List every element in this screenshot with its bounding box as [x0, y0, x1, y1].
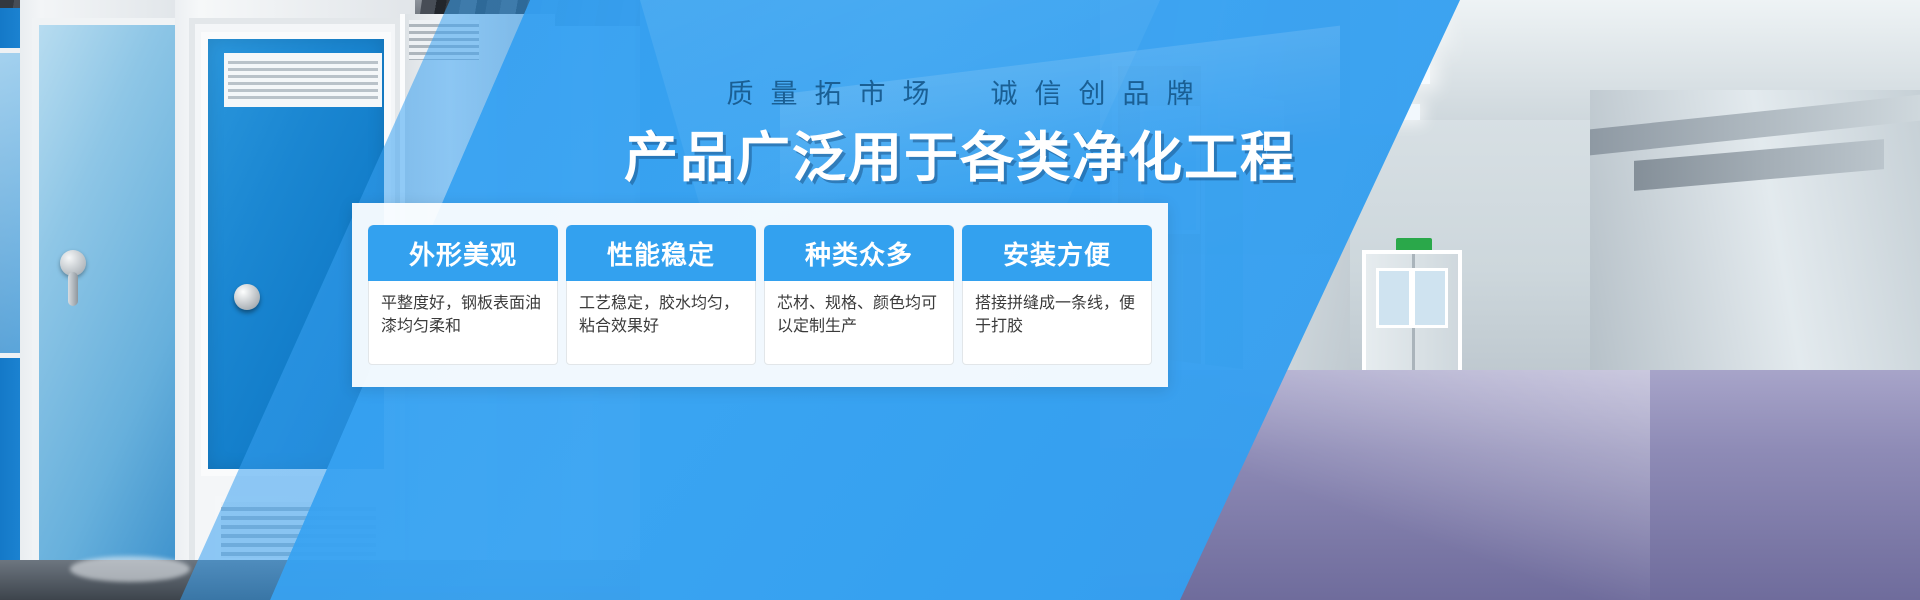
feature-card-text: 工艺稳定，胶水均匀，粘合效果好: [567, 281, 755, 345]
feature-card-text: 搭接拼缝成一条线，便于打胶: [963, 281, 1151, 345]
banner-tagline: 质量拓市场 诚信创品牌: [0, 72, 1920, 111]
feature-card[interactable]: 外形美观 平整度好，钢板表面油漆均匀柔和: [368, 225, 558, 365]
feature-card-text: 芯材、规格、颜色均可以定制生产: [765, 281, 953, 345]
feature-card-title: 安装方便: [962, 225, 1152, 281]
banner-headline: 产品广泛用于各类净化工程: [0, 113, 1920, 192]
feature-cards-row: 外形美观 平整度好，钢板表面油漆均匀柔和 性能稳定 工艺稳定，胶水均匀，粘合效果…: [352, 203, 1168, 387]
feature-card-title: 种类众多: [764, 225, 954, 281]
feature-card[interactable]: 安装方便 搭接拼缝成一条线，便于打胶: [962, 225, 1152, 365]
feature-card-text: 平整度好，钢板表面油漆均匀柔和: [369, 281, 557, 345]
feature-card[interactable]: 性能稳定 工艺稳定，胶水均匀，粘合效果好: [566, 225, 756, 365]
feature-card-title: 外形美观: [368, 225, 558, 281]
banner-content: 质量拓市场 诚信创品牌 产品广泛用于各类净化工程 外形美观 平整度好，钢板表面油…: [0, 0, 1920, 600]
feature-card-title: 性能稳定: [566, 225, 756, 281]
feature-card[interactable]: 种类众多 芯材、规格、颜色均可以定制生产: [764, 225, 954, 365]
promo-banner: 质量拓市场 诚信创品牌 产品广泛用于各类净化工程 外形美观 平整度好，钢板表面油…: [0, 0, 1920, 600]
